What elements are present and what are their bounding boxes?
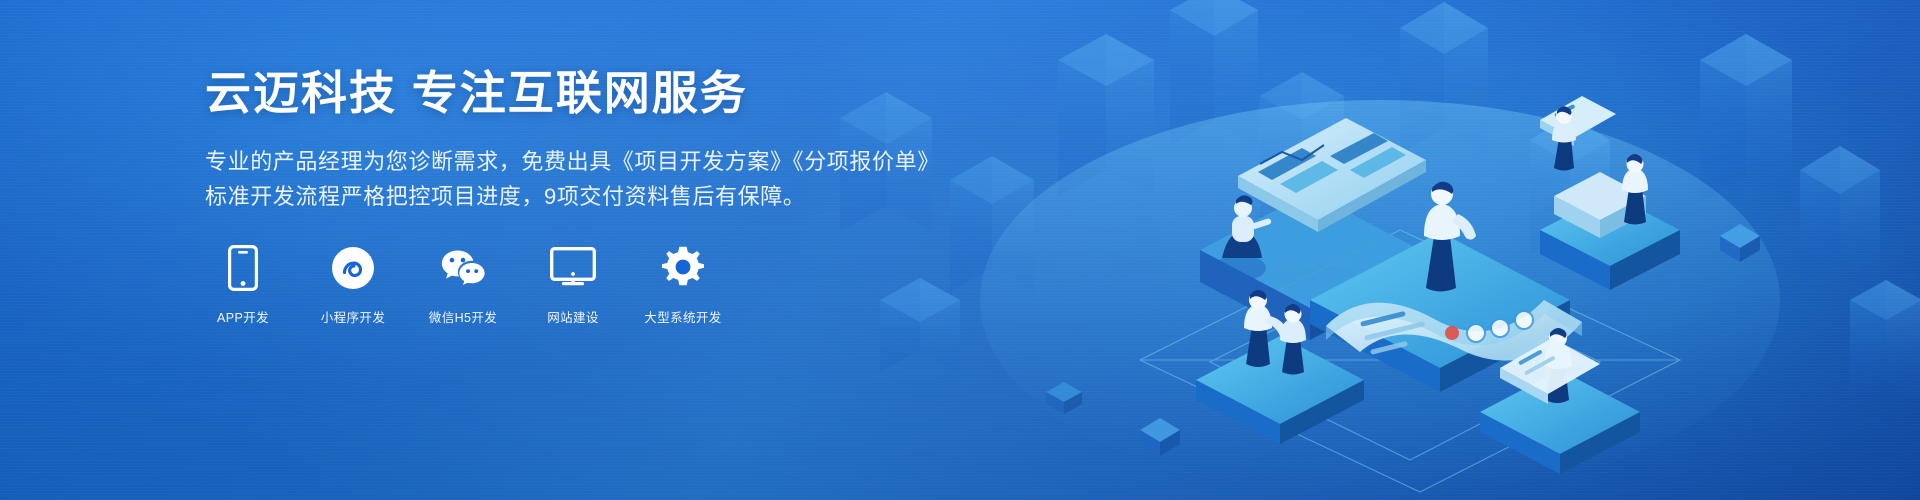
subtitle-line-2: 标准开发流程严格把控项目进度，9项交付资料售后有保障。 <box>205 179 965 215</box>
wechat-icon <box>440 245 486 291</box>
hero-banner: 云迈科技 专注互联网服务 专业的产品经理为您诊断需求，免费出具《项目开发方案》《… <box>0 0 1920 500</box>
service-list: APP开发 小程序开发 <box>205 245 965 326</box>
page-title: 云迈科技 专注互联网服务 <box>205 68 965 120</box>
service-label: 大型系统开发 <box>644 307 721 326</box>
service-label: APP开发 <box>217 307 269 326</box>
service-item-mini-program[interactable]: 小程序开发 <box>315 245 391 326</box>
service-item-website[interactable]: 网站建设 <box>535 245 611 326</box>
service-item-app[interactable]: APP开发 <box>205 245 281 326</box>
service-label: 微信H5开发 <box>429 307 497 326</box>
isometric-illustration <box>840 0 1920 500</box>
service-item-large-system[interactable]: 大型系统开发 <box>645 245 721 326</box>
gear-icon <box>660 245 706 291</box>
monitor-icon <box>550 245 596 291</box>
hero-subtitle: 专业的产品经理为您诊断需求，免费出具《项目开发方案》《分项报价单》 标准开发流程… <box>205 144 965 215</box>
mobile-phone-icon <box>220 245 266 291</box>
hero-content: 云迈科技 专注互联网服务 专业的产品经理为您诊断需求，免费出具《项目开发方案》《… <box>205 68 965 326</box>
service-item-wechat-h5[interactable]: 微信H5开发 <box>425 245 501 326</box>
subtitle-line-1: 专业的产品经理为您诊断需求，免费出具《项目开发方案》《分项报价单》 <box>205 144 965 180</box>
mini-program-icon <box>330 245 376 291</box>
service-label: 网站建设 <box>547 307 599 326</box>
service-label: 小程序开发 <box>321 307 386 326</box>
